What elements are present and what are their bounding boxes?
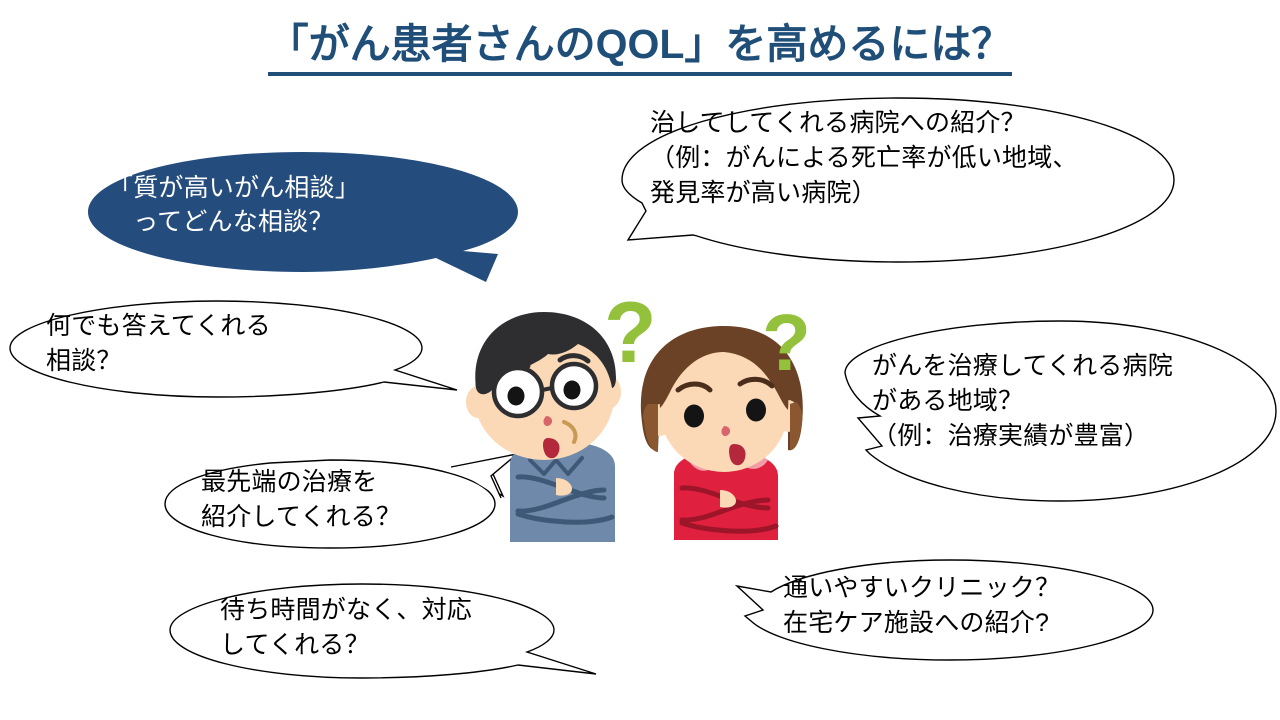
question-mark-icon: ?	[762, 298, 811, 387]
bubble-hospital-referral-line-2: （例：がんによる死亡率が低い地域、	[650, 142, 1078, 175]
bubble-treatment-region: がんを治療してくれる病院 がある地域？ （例：治療実績が豊富）	[836, 318, 1280, 508]
bubble-quality-consultation-line-2: ってどんな相談？	[108, 206, 334, 239]
bubble-quality-consultation: 「質が高いがん相談」 ってどんな相談？	[78, 150, 538, 290]
man-eye-right	[564, 381, 581, 400]
bubble-treatment-region-line-3: （例：治療実績が豊富）	[872, 420, 1149, 453]
two-confused-people: ? ?	[452, 292, 822, 582]
woman-hair-strand-right	[790, 402, 803, 450]
man-glasses-bridge	[542, 388, 552, 390]
bubble-easy-clinic-line-1: 通いやすいクリニック？	[783, 572, 1060, 605]
man-eye-left	[508, 387, 525, 406]
slide-canvas: 「がん患者さんのQOL」を高めるには？ 「質が高いがん相談」 ってどんな相談？ …	[0, 0, 1280, 720]
page-title: 「がん患者さんのQOL」を高めるには？	[0, 22, 1280, 76]
bubble-quality-consultation-line-1: 「質が高いがん相談」	[108, 172, 360, 205]
bubble-answer-anything: 何でも答えてくれる 相談？	[2, 298, 462, 418]
bubble-answer-anything-line-2: 相談？	[46, 345, 122, 378]
bubble-advanced-treatment-line-2: 紹介してくれる？	[201, 501, 401, 534]
bubble-treatment-region-line-2: がある地域？	[872, 385, 1023, 418]
bubble-hospital-referral-line-3: 発見率が高い病院）	[650, 177, 877, 210]
bubble-treatment-region-line-1: がんを治療してくれる病院	[872, 350, 1173, 383]
question-mark-icon: ?	[604, 292, 657, 381]
woman-eye-right	[746, 399, 766, 422]
bubble-no-waiting-line-1: 待ち時間がなく、対応	[220, 594, 472, 627]
confused-man	[466, 312, 621, 542]
bubble-easy-clinic-line-2: 在宅ケア施設への紹介?	[783, 607, 1049, 640]
bubble-hospital-referral: 治してしてくれる病院への紹介？ （例：がんによる死亡率が低い地域、 発見率が高い…	[618, 95, 1178, 285]
bubble-no-waiting: 待ち時間がなく、対応 してくれる？	[158, 578, 618, 696]
bubble-hospital-referral-line-1: 治してしてくれる病院への紹介？	[650, 107, 1026, 140]
bubble-no-waiting-line-2: してくれる？	[220, 629, 370, 662]
bubble-advanced-treatment-line-1: 最先端の治療を	[201, 466, 377, 499]
page-title-text: 「がん患者さんのQOL」を高めるには？	[268, 22, 1013, 76]
woman-hair-strand-left	[643, 404, 658, 452]
woman-eye-left	[684, 405, 704, 428]
bubble-answer-anything-line-1: 何でも答えてくれる	[46, 310, 271, 343]
